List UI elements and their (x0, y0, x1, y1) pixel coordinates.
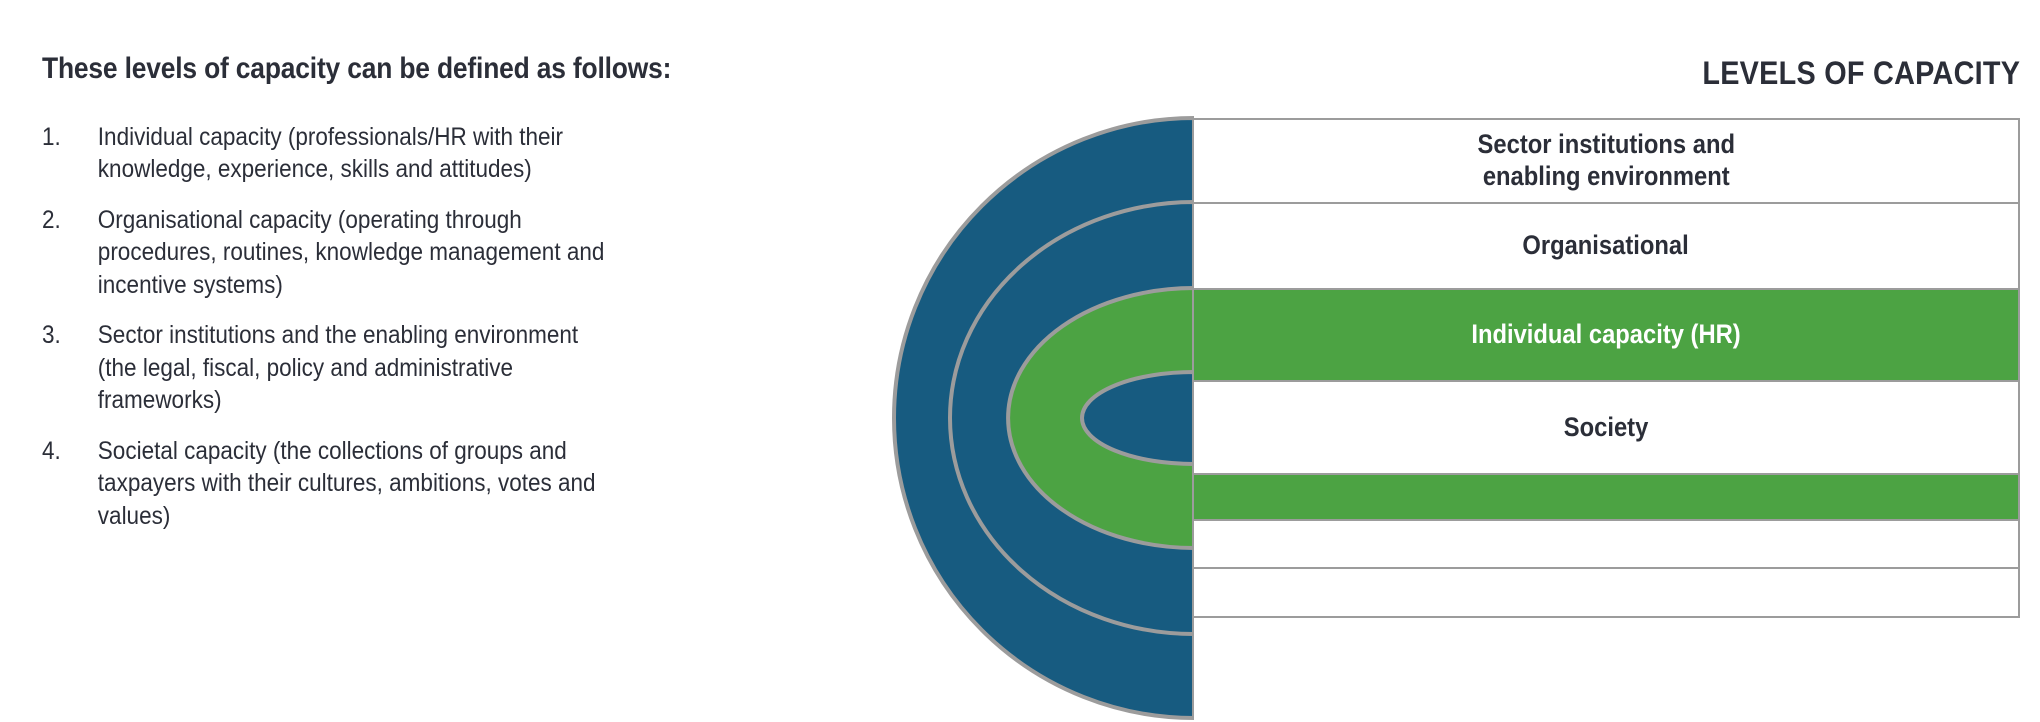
list-item-text: Organisational capacity (operating throu… (98, 204, 611, 302)
capacity-row-spacer-5 (1192, 519, 2020, 567)
levels-of-capacity-diagram: LEVELS OF CAPACITY Sector institutions a… (660, 0, 2040, 722)
list-item: 4.Societal capacity (the collections of … (42, 435, 663, 533)
list-item: 1.Individual capacity (professionals/HR … (42, 121, 663, 186)
list-item-text: Societal capacity (the collections of gr… (98, 435, 611, 533)
capacity-row-label: Organisational (1523, 230, 1689, 262)
infographic-root: These levels of capacity can be defined … (0, 0, 2040, 722)
capacity-rows: Sector institutions andenabling environm… (1192, 118, 2020, 618)
capacity-row-spacer-6 (1192, 567, 2020, 618)
capacity-row-label: Individual capacity (HR) (1471, 319, 1740, 351)
list-item-number: 2. (42, 204, 98, 302)
capacity-row-label: Society (1564, 412, 1649, 444)
list-item-number: 3. (42, 319, 98, 417)
capacity-row-2: Individual capacity (HR) (1192, 288, 2020, 380)
capacity-row-spacer-4 (1192, 473, 2020, 519)
list-item-text: Individual capacity (professionals/HR wi… (98, 121, 611, 186)
explanation-panel: These levels of capacity can be defined … (42, 52, 662, 550)
list-item-number: 4. (42, 435, 98, 533)
capacity-row-3: Society (1192, 380, 2020, 473)
list-item: 3.Sector institutions and the enabling e… (42, 319, 663, 417)
list-item-number: 1. (42, 121, 98, 186)
lead-heading: These levels of capacity can be defined … (42, 52, 588, 87)
capacity-row-1: Organisational (1192, 202, 2020, 288)
capacity-row-label: Sector institutions andenabling environm… (1477, 129, 1734, 193)
list-item: 2.Organisational capacity (operating thr… (42, 204, 663, 302)
capacity-row-0: Sector institutions andenabling environm… (1192, 118, 2020, 202)
list-item-text: Sector institutions and the enabling env… (98, 319, 611, 417)
capacity-levels-list: 1.Individual capacity (professionals/HR … (42, 121, 663, 533)
